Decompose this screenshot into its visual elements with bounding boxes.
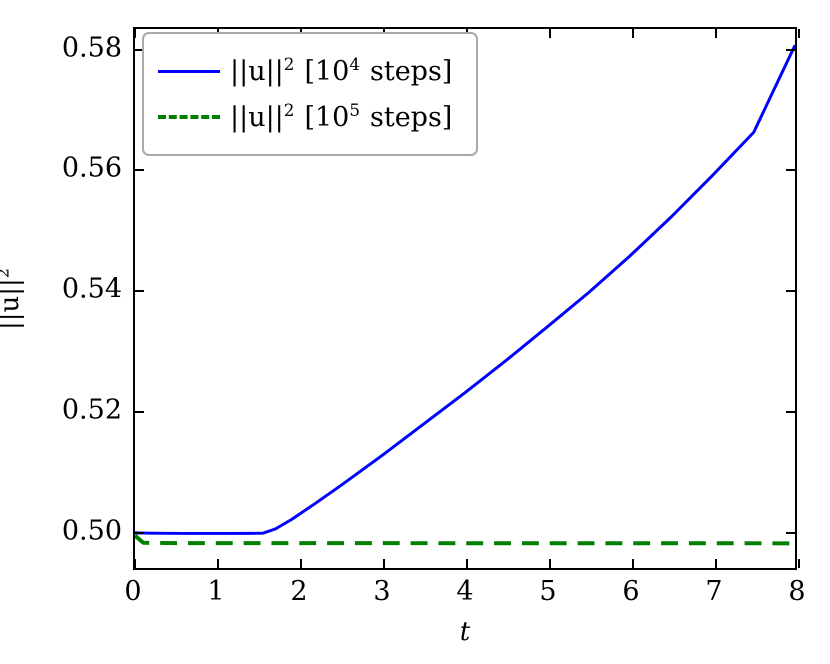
legend-box: ||u||2[104steps] ||u||2[105steps] — [142, 32, 478, 156]
legend-line-swatch-dashed — [158, 106, 220, 128]
y-tick-left — [135, 290, 144, 292]
legend-entry-1: ||u||2[105steps] — [158, 94, 460, 140]
x-tick-label: 5 — [539, 578, 556, 605]
legend-label-1: ||u||2[105steps] — [230, 104, 452, 131]
legend-tail-0: steps] — [370, 56, 452, 87]
legend-bracket-exponent-0: 4 — [349, 54, 360, 74]
legend-entry-0: ||u||2[104steps] — [158, 48, 460, 94]
legend-exponent-0: 2 — [284, 54, 295, 74]
chart-figure: 0.500.520.540.560.58 ||u||2 t ||u||2[104… — [0, 0, 830, 664]
x-tick-label: 2 — [290, 578, 307, 605]
y-tick-label: 0.52 — [62, 397, 122, 424]
x-tick-label: 4 — [456, 578, 473, 605]
y-tick-right — [786, 49, 795, 51]
x-axis-label: t — [460, 617, 470, 647]
x-tick-top — [632, 29, 634, 38]
x-tick-bottom — [466, 559, 468, 568]
x-tick-bottom — [715, 559, 717, 568]
x-tick-label: 0 — [124, 578, 141, 605]
y-tick-label: 0.56 — [62, 155, 122, 182]
x-tick-bottom — [217, 559, 219, 568]
x-tick-top — [134, 29, 136, 38]
legend-line-swatch-solid — [158, 60, 220, 82]
x-tick-bottom — [383, 559, 385, 568]
series-line-1 — [135, 536, 795, 544]
x-tick-bottom — [134, 559, 136, 568]
x-tick-label: 1 — [207, 578, 224, 605]
y-tick-right — [786, 532, 795, 534]
x-tick-top — [549, 29, 551, 38]
y-tick-right — [786, 411, 795, 413]
x-tick-top — [715, 29, 717, 38]
legend-norm-1: ||u|| — [230, 102, 284, 133]
legend-norm-0: ||u|| — [230, 56, 284, 87]
y-axis-label: ||u||2 — [0, 239, 25, 359]
x-tick-label: 8 — [788, 578, 805, 605]
legend-exponent-1: 2 — [284, 100, 295, 120]
x-tick-top — [798, 29, 800, 38]
y-tick-left — [135, 532, 144, 534]
y-tick-left — [135, 411, 144, 413]
x-tick-bottom — [632, 559, 634, 568]
y-tick-label: 0.54 — [62, 276, 122, 303]
y-tick-left — [135, 169, 144, 171]
x-tick-label: 6 — [622, 578, 639, 605]
x-tick-bottom — [300, 559, 302, 568]
x-tick-label: 7 — [705, 578, 722, 605]
x-tick-label: 3 — [373, 578, 390, 605]
x-tick-bottom — [549, 559, 551, 568]
y-tick-label: 0.50 — [62, 518, 122, 545]
y-axis-label-exponent: 2 — [0, 268, 12, 278]
x-tick-bottom — [798, 559, 800, 568]
y-tick-right — [786, 169, 795, 171]
legend-tail-1: steps] — [370, 102, 452, 133]
legend-bracket-0: [10 — [304, 56, 349, 87]
y-tick-right — [786, 290, 795, 292]
y-axis-label-norm: ||u|| — [0, 278, 25, 330]
legend-bracket-1: [10 — [304, 102, 349, 133]
legend-bracket-exponent-1: 5 — [349, 100, 360, 120]
legend-label-0: ||u||2[104steps] — [230, 58, 452, 85]
y-tick-label: 0.58 — [62, 34, 122, 61]
